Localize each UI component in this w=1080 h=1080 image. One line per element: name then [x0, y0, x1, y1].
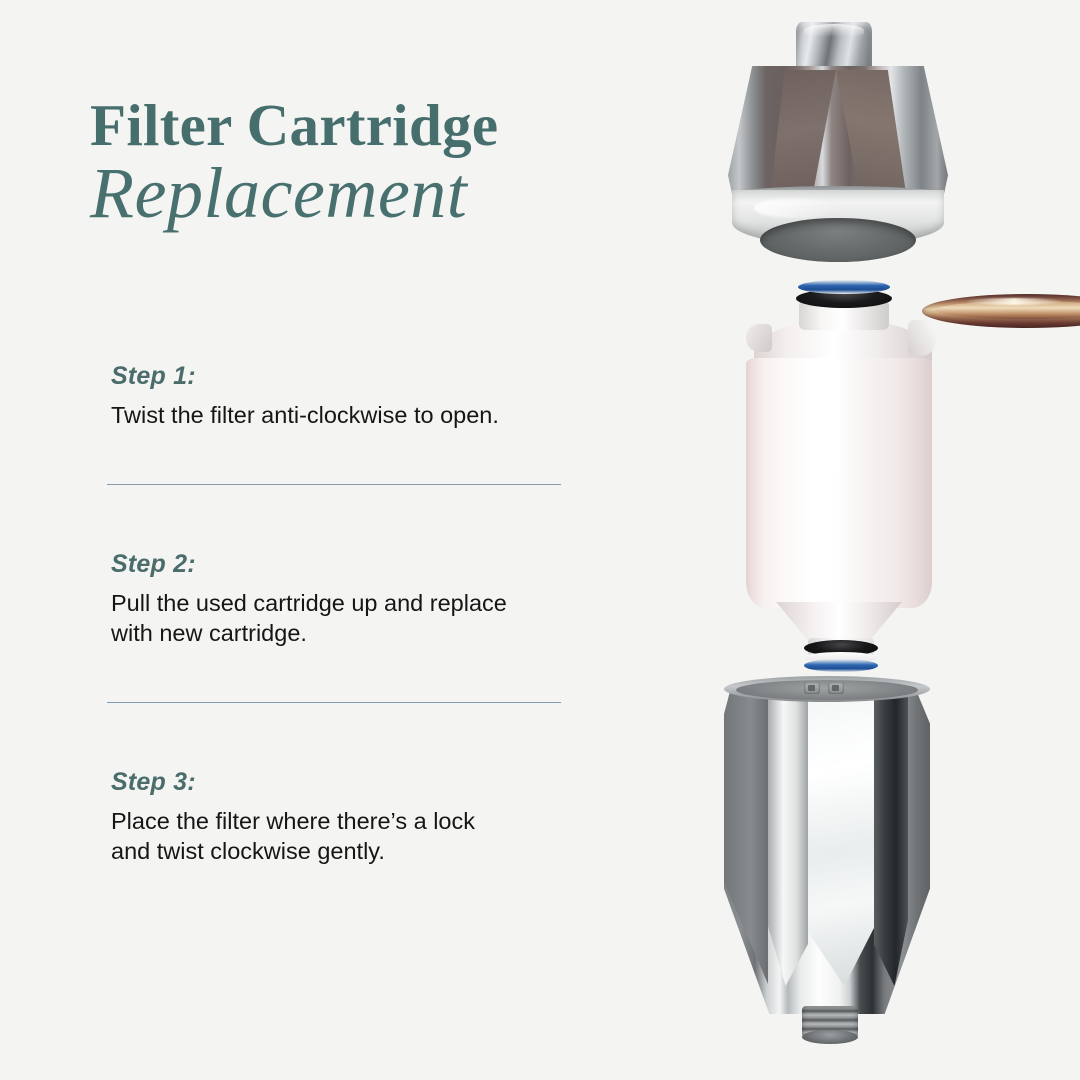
divider-2	[107, 702, 561, 703]
text-column: Filter Cartridge Replacement Step 1: Twi…	[0, 0, 640, 1080]
step-3-body: Place the filter where there’s a lock an…	[111, 806, 577, 867]
cartridge-body-highlight	[832, 360, 841, 600]
copper-gasket-highlight	[966, 298, 1062, 305]
step-2-heading: Step 2:	[111, 550, 577, 579]
step-1-heading: Step 1:	[111, 362, 577, 391]
cap-faceted-body	[728, 66, 948, 206]
cartridge-blue-ring-bottom	[804, 659, 878, 672]
housing-rim-inner	[736, 680, 918, 700]
housing-thread-end-cap	[802, 1030, 858, 1044]
spacer	[107, 703, 577, 768]
spacer	[107, 649, 577, 702]
cartridge-tab-right	[908, 320, 936, 356]
step-item-3: Step 3: Place the filter where there’s a…	[107, 768, 577, 867]
divider-1	[107, 484, 561, 485]
chrome-cap-image	[728, 22, 948, 262]
step-3-heading: Step 3:	[111, 768, 577, 797]
spacer	[107, 485, 577, 550]
page-title: Filter Cartridge Replacement	[90, 96, 610, 230]
white-cartridge-image	[740, 280, 940, 680]
cap-rim-highlight	[754, 198, 838, 218]
title-line-primary: Filter Cartridge	[90, 96, 610, 155]
step-item-1: Step 1: Twist the filter anti-clockwise …	[107, 362, 577, 431]
housing-facet-bright	[768, 686, 808, 986]
step-2-body: Pull the used cartridge up and replace w…	[111, 588, 577, 649]
step-1-body: Twist the filter anti-clockwise to open.	[111, 400, 577, 431]
housing-lock-notch-2	[828, 682, 844, 694]
cap-bottom-opening	[760, 218, 916, 262]
steps-list: Step 1: Twist the filter anti-clockwise …	[107, 362, 577, 867]
chrome-housing-image	[724, 672, 954, 1062]
infographic-canvas: Filter Cartridge Replacement Step 1: Twi…	[0, 0, 1080, 1080]
title-line-secondary: Replacement	[90, 157, 610, 230]
step-item-2: Step 2: Pull the used cartridge up and r…	[107, 550, 577, 649]
product-image-column	[640, 0, 1080, 1080]
housing-facet-dark	[874, 686, 908, 986]
spacer	[107, 431, 577, 484]
cartridge-blue-ring-top	[798, 280, 890, 294]
cartridge-tab-left	[746, 324, 772, 352]
housing-lock-notch-1	[804, 682, 820, 694]
